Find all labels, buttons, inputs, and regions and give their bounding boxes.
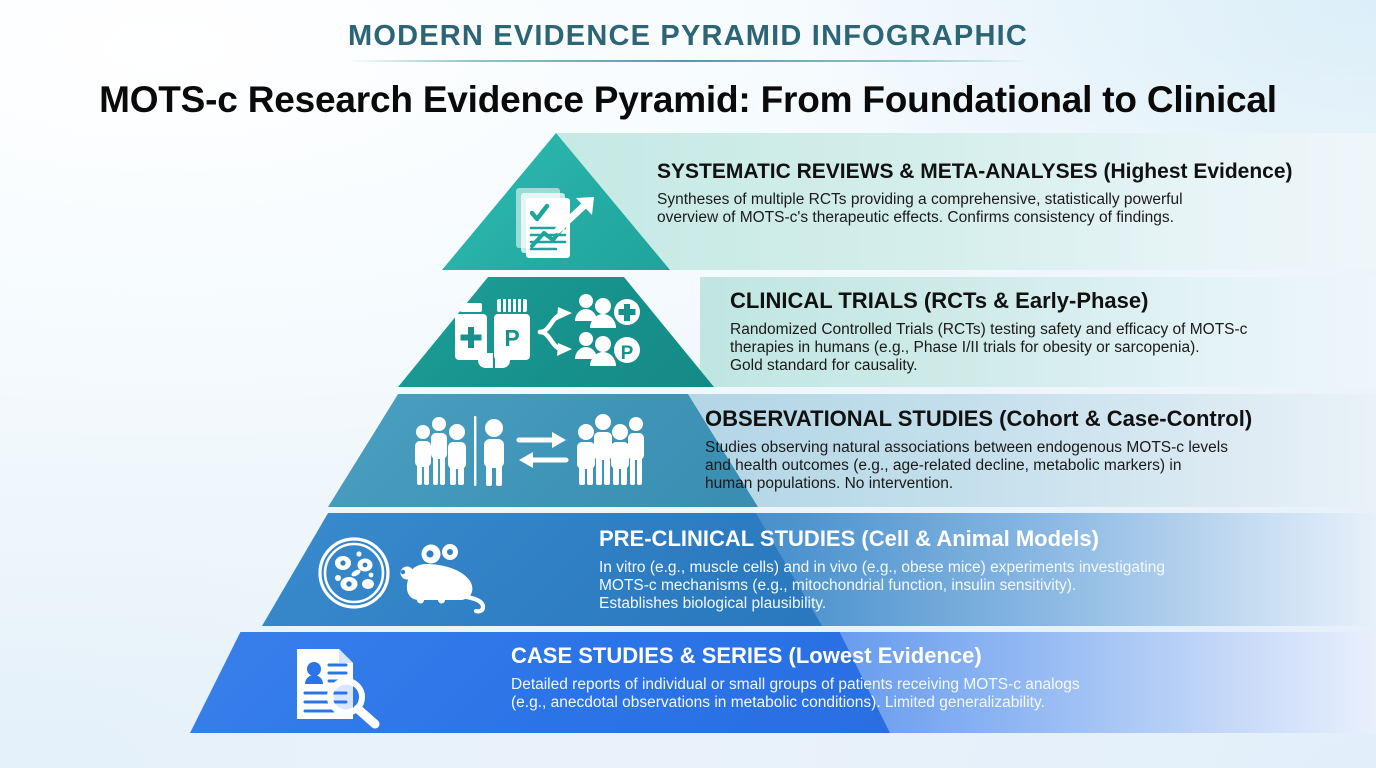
level-4-text: PRE-CLINICAL STUDIES (Cell & Animal Mode…: [599, 527, 1299, 613]
pyramid-level-1[interactable]: SYSTEMATIC REVIEWS & META-ANALYSES (High…: [0, 133, 1376, 270]
kicker-divider: [348, 60, 1028, 62]
level-2-text: CLINICAL TRIALS (RCTs & Early-Phase) Ran…: [730, 289, 1370, 375]
population-groups-exchange-icon: [409, 410, 643, 492]
infographic-canvas: MODERN EVIDENCE PYRAMID INFOGRAPHIC MOTS…: [0, 0, 1376, 768]
page-title: MOTS-c Research Evidence Pyramid: From F…: [0, 79, 1376, 121]
header: MODERN EVIDENCE PYRAMID INFOGRAPHIC MOTS…: [0, 0, 1376, 121]
level-1-title: SYSTEMATIC REVIEWS & META-ANALYSES (High…: [657, 161, 1357, 183]
level-2-title: CLINICAL TRIALS (RCTs & Early-Phase): [730, 289, 1370, 312]
level-5-description: Detailed reports of individual or small …: [511, 676, 1231, 712]
level-3-title: OBSERVATIONAL STUDIES (Cohort & Case-Con…: [705, 407, 1365, 430]
level-4-title: PRE-CLINICAL STUDIES (Cell & Animal Mode…: [599, 527, 1299, 550]
level-3-description: Studies observing natural associations b…: [705, 439, 1365, 493]
pyramid-level-2[interactable]: P: [0, 277, 1376, 387]
pill-bottles-patient-groups-icon: P: [452, 289, 664, 375]
level-1-icon: [498, 179, 618, 267]
level-3-icon: [406, 408, 646, 494]
pyramid-level-4[interactable]: PRE-CLINICAL STUDIES (Cell & Animal Mode…: [0, 513, 1376, 626]
petri-dish-mouse-icon: [314, 534, 510, 612]
pyramid-level-3[interactable]: OBSERVATIONAL STUDIES (Cohort & Case-Con…: [0, 394, 1376, 507]
level-5-icon: [278, 644, 398, 724]
svg-text:P: P: [504, 325, 519, 351]
level-4-icon: [312, 532, 512, 614]
pyramid-level-5[interactable]: CASE STUDIES & SERIES (Lowest Evidence) …: [0, 632, 1376, 733]
level-3-text: OBSERVATIONAL STUDIES (Cohort & Case-Con…: [705, 407, 1365, 493]
level-2-description: Randomized Controlled Trials (RCTs) test…: [730, 321, 1370, 375]
level-1-text: SYSTEMATIC REVIEWS & META-ANALYSES (High…: [657, 161, 1357, 227]
checklist-chart-arrow-icon: [506, 180, 610, 266]
svg-text:P: P: [621, 343, 634, 364]
level-2-icon: P: [448, 287, 668, 377]
kicker-title: MODERN EVIDENCE PYRAMID INFOGRAPHIC: [348, 20, 1028, 60]
level-5-text: CASE STUDIES & SERIES (Lowest Evidence) …: [511, 644, 1231, 712]
level-4-description: In vitro (e.g., muscle cells) and in viv…: [599, 559, 1299, 613]
level-5-title: CASE STUDIES & SERIES (Lowest Evidence): [511, 644, 1231, 667]
patient-record-magnifier-icon: [283, 645, 393, 723]
level-1-description: Syntheses of multiple RCTs providing a c…: [657, 191, 1357, 227]
